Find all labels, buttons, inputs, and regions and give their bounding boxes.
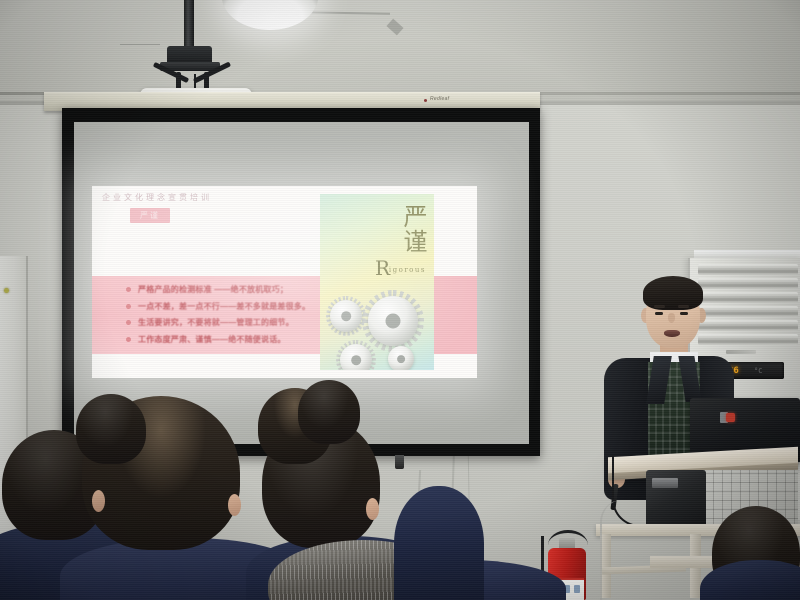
presenter-eye — [655, 312, 663, 315]
projector-mount-pole — [184, 0, 194, 52]
poster-cjk-title: 严谨 — [402, 204, 424, 254]
ac-louver — [698, 264, 798, 275]
ac-louver — [698, 292, 798, 303]
bullet-dot-icon — [126, 337, 131, 342]
extinguisher-pictogram-icon — [574, 585, 580, 593]
ceiling — [0, 0, 800, 104]
audience-ear — [228, 494, 241, 516]
presenter-mouth — [664, 330, 680, 337]
bullet-text: 生活要讲究，不要将就——管理工的细节。 — [138, 317, 294, 328]
audience-ear — [366, 498, 379, 520]
projected-slide: 企业文化理念宣贯培训 严谨 严格产品的检测标准 ——绝不放机取巧； 一点不差，差… — [92, 186, 477, 378]
ac-louver — [698, 320, 798, 331]
slide-band-right — [434, 276, 477, 354]
bullet-text: 工作态度严肃、谨慎——绝不随便说话。 — [138, 334, 286, 345]
presenter-brow — [654, 305, 665, 308]
presenter-brow — [678, 305, 689, 308]
bullet-dot-icon — [126, 287, 131, 292]
bullet-dot-icon — [126, 304, 131, 309]
brand-dot-icon — [424, 99, 427, 102]
ac-louver — [698, 334, 798, 345]
slide-title: 企业文化理念宣贯培训 — [102, 192, 212, 203]
ac-louver — [698, 306, 798, 317]
poster-latin-text: igorous — [389, 266, 426, 274]
presenter-nose — [668, 313, 675, 323]
audience-head — [76, 394, 146, 464]
wall-conduit — [600, 500, 622, 600]
audience-head — [298, 380, 360, 444]
panel-screw — [4, 288, 9, 293]
gear-icon — [368, 296, 418, 346]
audience-shoulders — [394, 486, 484, 600]
ac-louver — [698, 278, 798, 289]
audience-ear — [92, 490, 105, 512]
gear-icon — [340, 344, 372, 370]
bullet-dot-icon — [126, 320, 131, 325]
screen-weight-bar — [395, 455, 404, 469]
ac-brand-logo — [726, 350, 756, 354]
gear-icon — [388, 346, 414, 370]
amplifier-control-panel — [652, 478, 678, 488]
bullet-text: 严格产品的检测标准 ——绝不放机取巧； — [138, 284, 288, 295]
photo-scene: Redleaf 企业文化理念宣贯培训 严谨 严格产品的检测标准 ——绝不放机取巧… — [0, 0, 800, 600]
bullet-text: 一点不差，差一点不行——差不多就是差很多。 — [138, 301, 310, 312]
screen-brand-label: Redleaf — [430, 96, 449, 102]
gear-icon — [330, 300, 362, 332]
ceiling-crack — [120, 44, 160, 45]
presenter-hair — [643, 276, 703, 310]
laptop-logo-icon — [726, 413, 735, 422]
slide-section-tag: 严谨 — [130, 208, 170, 223]
slide-poster-image: 严谨 R igorous — [320, 194, 434, 370]
ac-temperature-unit: °C — [754, 367, 762, 375]
presenter-eye — [680, 312, 688, 315]
poster-latin-initial: R — [375, 256, 390, 280]
